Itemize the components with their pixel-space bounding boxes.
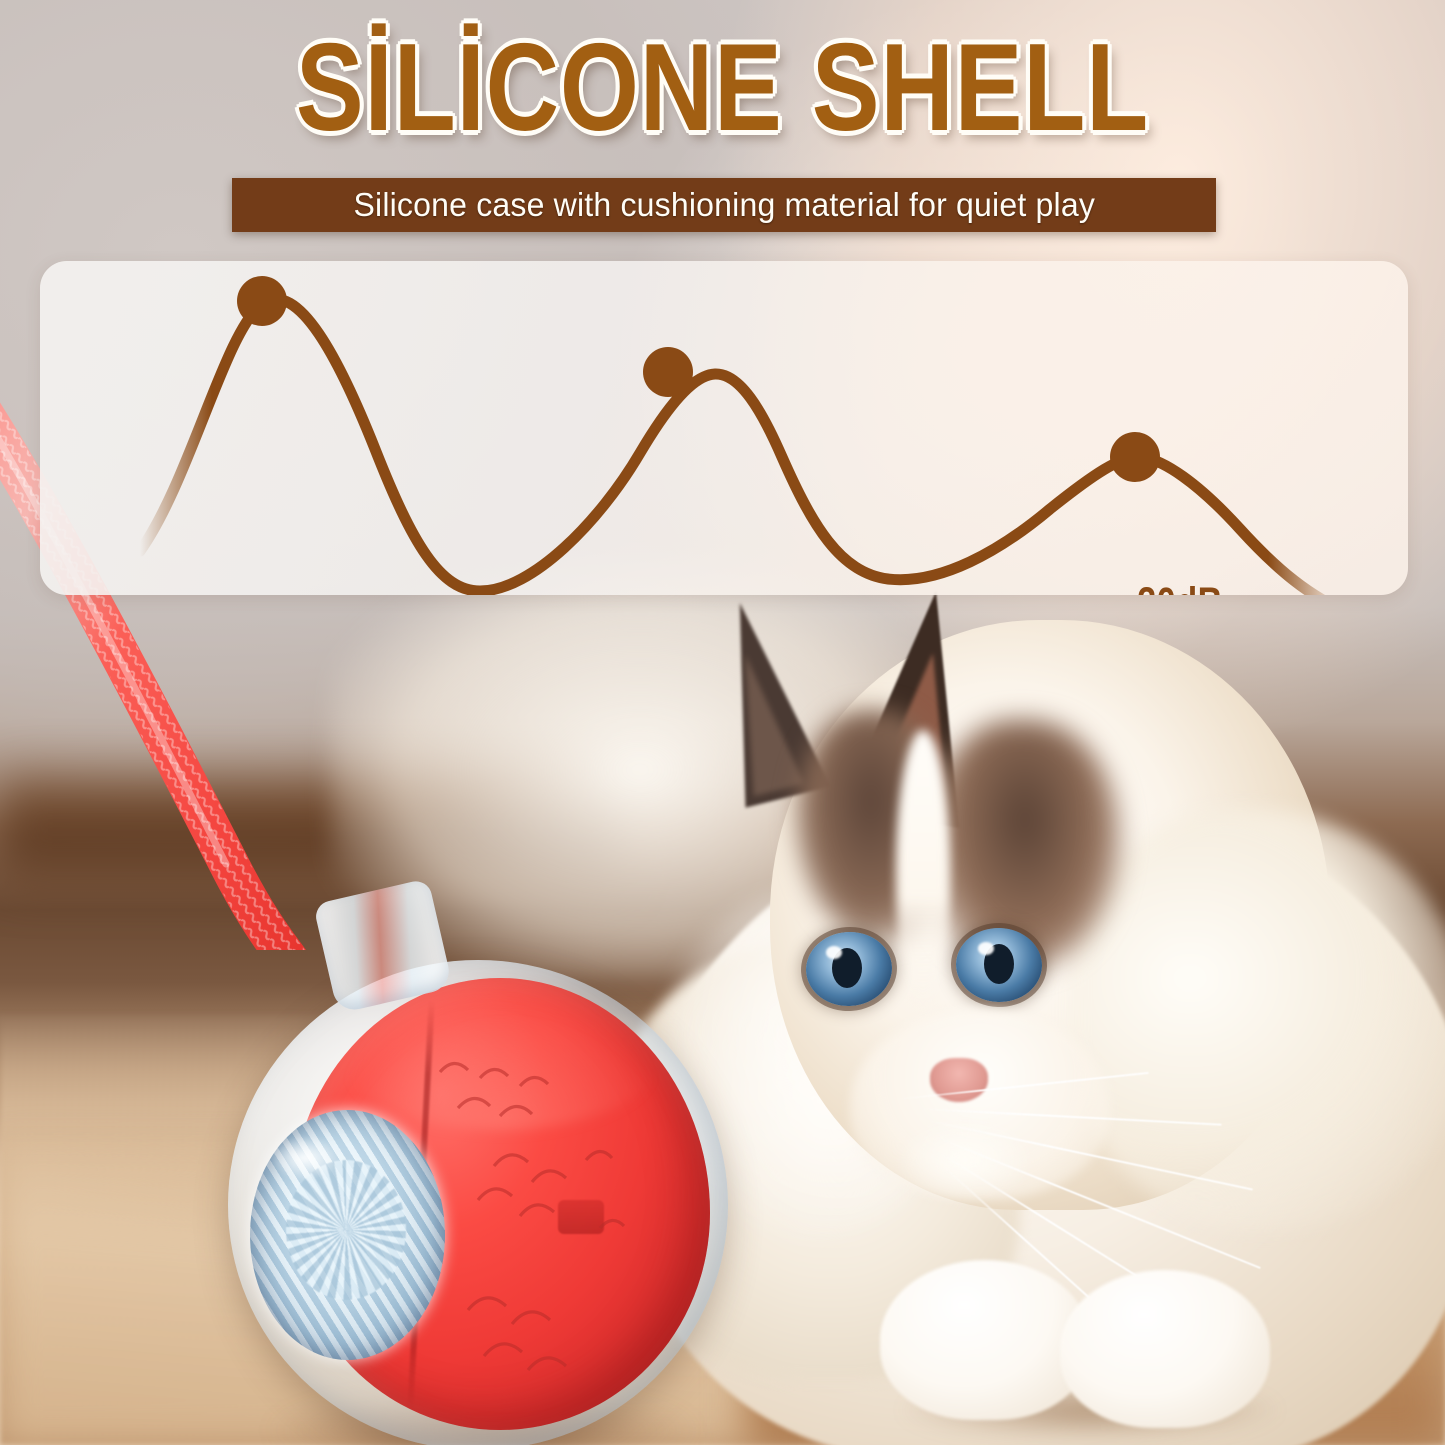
chart-label-hairdryer: 80dB Hairdryer [145,591,465,595]
cat-paw-right [1060,1270,1270,1428]
cat-eye-glint-left [826,946,842,959]
data-point-dot [1110,432,1160,482]
chart-value-night: 20dB [1060,581,1300,595]
cat-paw-left [880,1260,1090,1420]
sound-comparison-panel: 80dB Hairdryer ≤50dB Toy ball 20dB Night [40,261,1408,595]
subtitle-banner: Silicone case with cushioning material f… [232,178,1216,232]
ball-paw-texture [228,960,728,1445]
data-point-dot [643,347,693,397]
subtitle-text: Silicone case with cushioning material f… [353,186,1095,224]
sound-wave-chart [40,261,1408,595]
wave-line-path [140,299,1340,595]
cat-toy-ball [228,960,748,1445]
data-point-dot [237,276,287,326]
chart-label-night: 20dB Night [1030,581,1330,595]
product-infographic: SİLİCONE SHELL Silicone case with cushio… [0,0,1445,1445]
page-title: SİLİCONE SHELL [130,28,1315,148]
cat-eye-glint-right [978,942,994,955]
cat-ruff-right [1070,810,1445,1230]
cat-blaze [896,730,950,1010]
chart-value-hairdryer: 80dB [177,591,433,595]
